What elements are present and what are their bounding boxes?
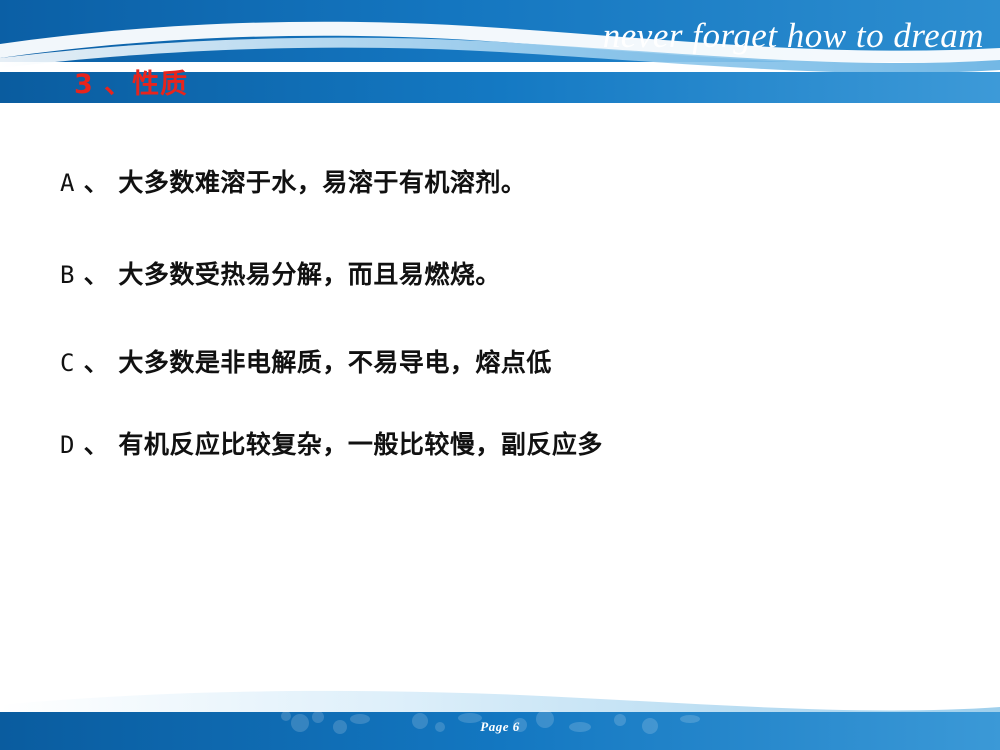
page-number: Page 6 — [0, 719, 1000, 735]
bullet-marker: A — [60, 169, 74, 197]
bullet-marker: B — [60, 261, 74, 289]
bullet-marker: C — [60, 349, 74, 377]
bullet-text: 大多数受热易分解，而且易燃烧。 — [118, 260, 501, 289]
bullet-text: 大多数是非电解质，不易导电，熔点低 — [118, 348, 552, 377]
list-item: C 、 大多数是非电解质，不易导电，熔点低 — [60, 343, 552, 379]
list-item: A 、 大多数难溶于水，易溶于有机溶剂。 — [60, 163, 526, 199]
bullet-text: 有机反应比较复杂，一般比较慢，副反应多 — [118, 430, 603, 459]
slide-footer: Page 6 — [0, 683, 1000, 750]
bullet-separator: 、 — [84, 168, 110, 197]
bullet-text: 大多数难溶于水，易溶于有机溶剂。 — [118, 168, 526, 197]
header-tagline: never forget how to dream — [603, 16, 984, 56]
list-item: B 、 大多数受热易分解，而且易燃烧。 — [60, 255, 501, 291]
page-title: 3 、性质 — [74, 62, 188, 101]
footer-decoration — [0, 683, 1000, 750]
list-item: D 、 有机反应比较复杂，一般比较慢，副反应多 — [60, 425, 603, 461]
bullet-separator: 、 — [84, 260, 110, 289]
slide: never forget how to dream 3 、性质 A 、 大多数难… — [0, 0, 1000, 750]
slide-body: A 、 大多数难溶于水，易溶于有机溶剂。 B 、 大多数受热易分解，而且易燃烧。… — [0, 103, 1000, 683]
bullet-marker: D — [60, 431, 74, 459]
bullet-separator: 、 — [84, 348, 110, 377]
bullet-separator: 、 — [84, 430, 110, 459]
